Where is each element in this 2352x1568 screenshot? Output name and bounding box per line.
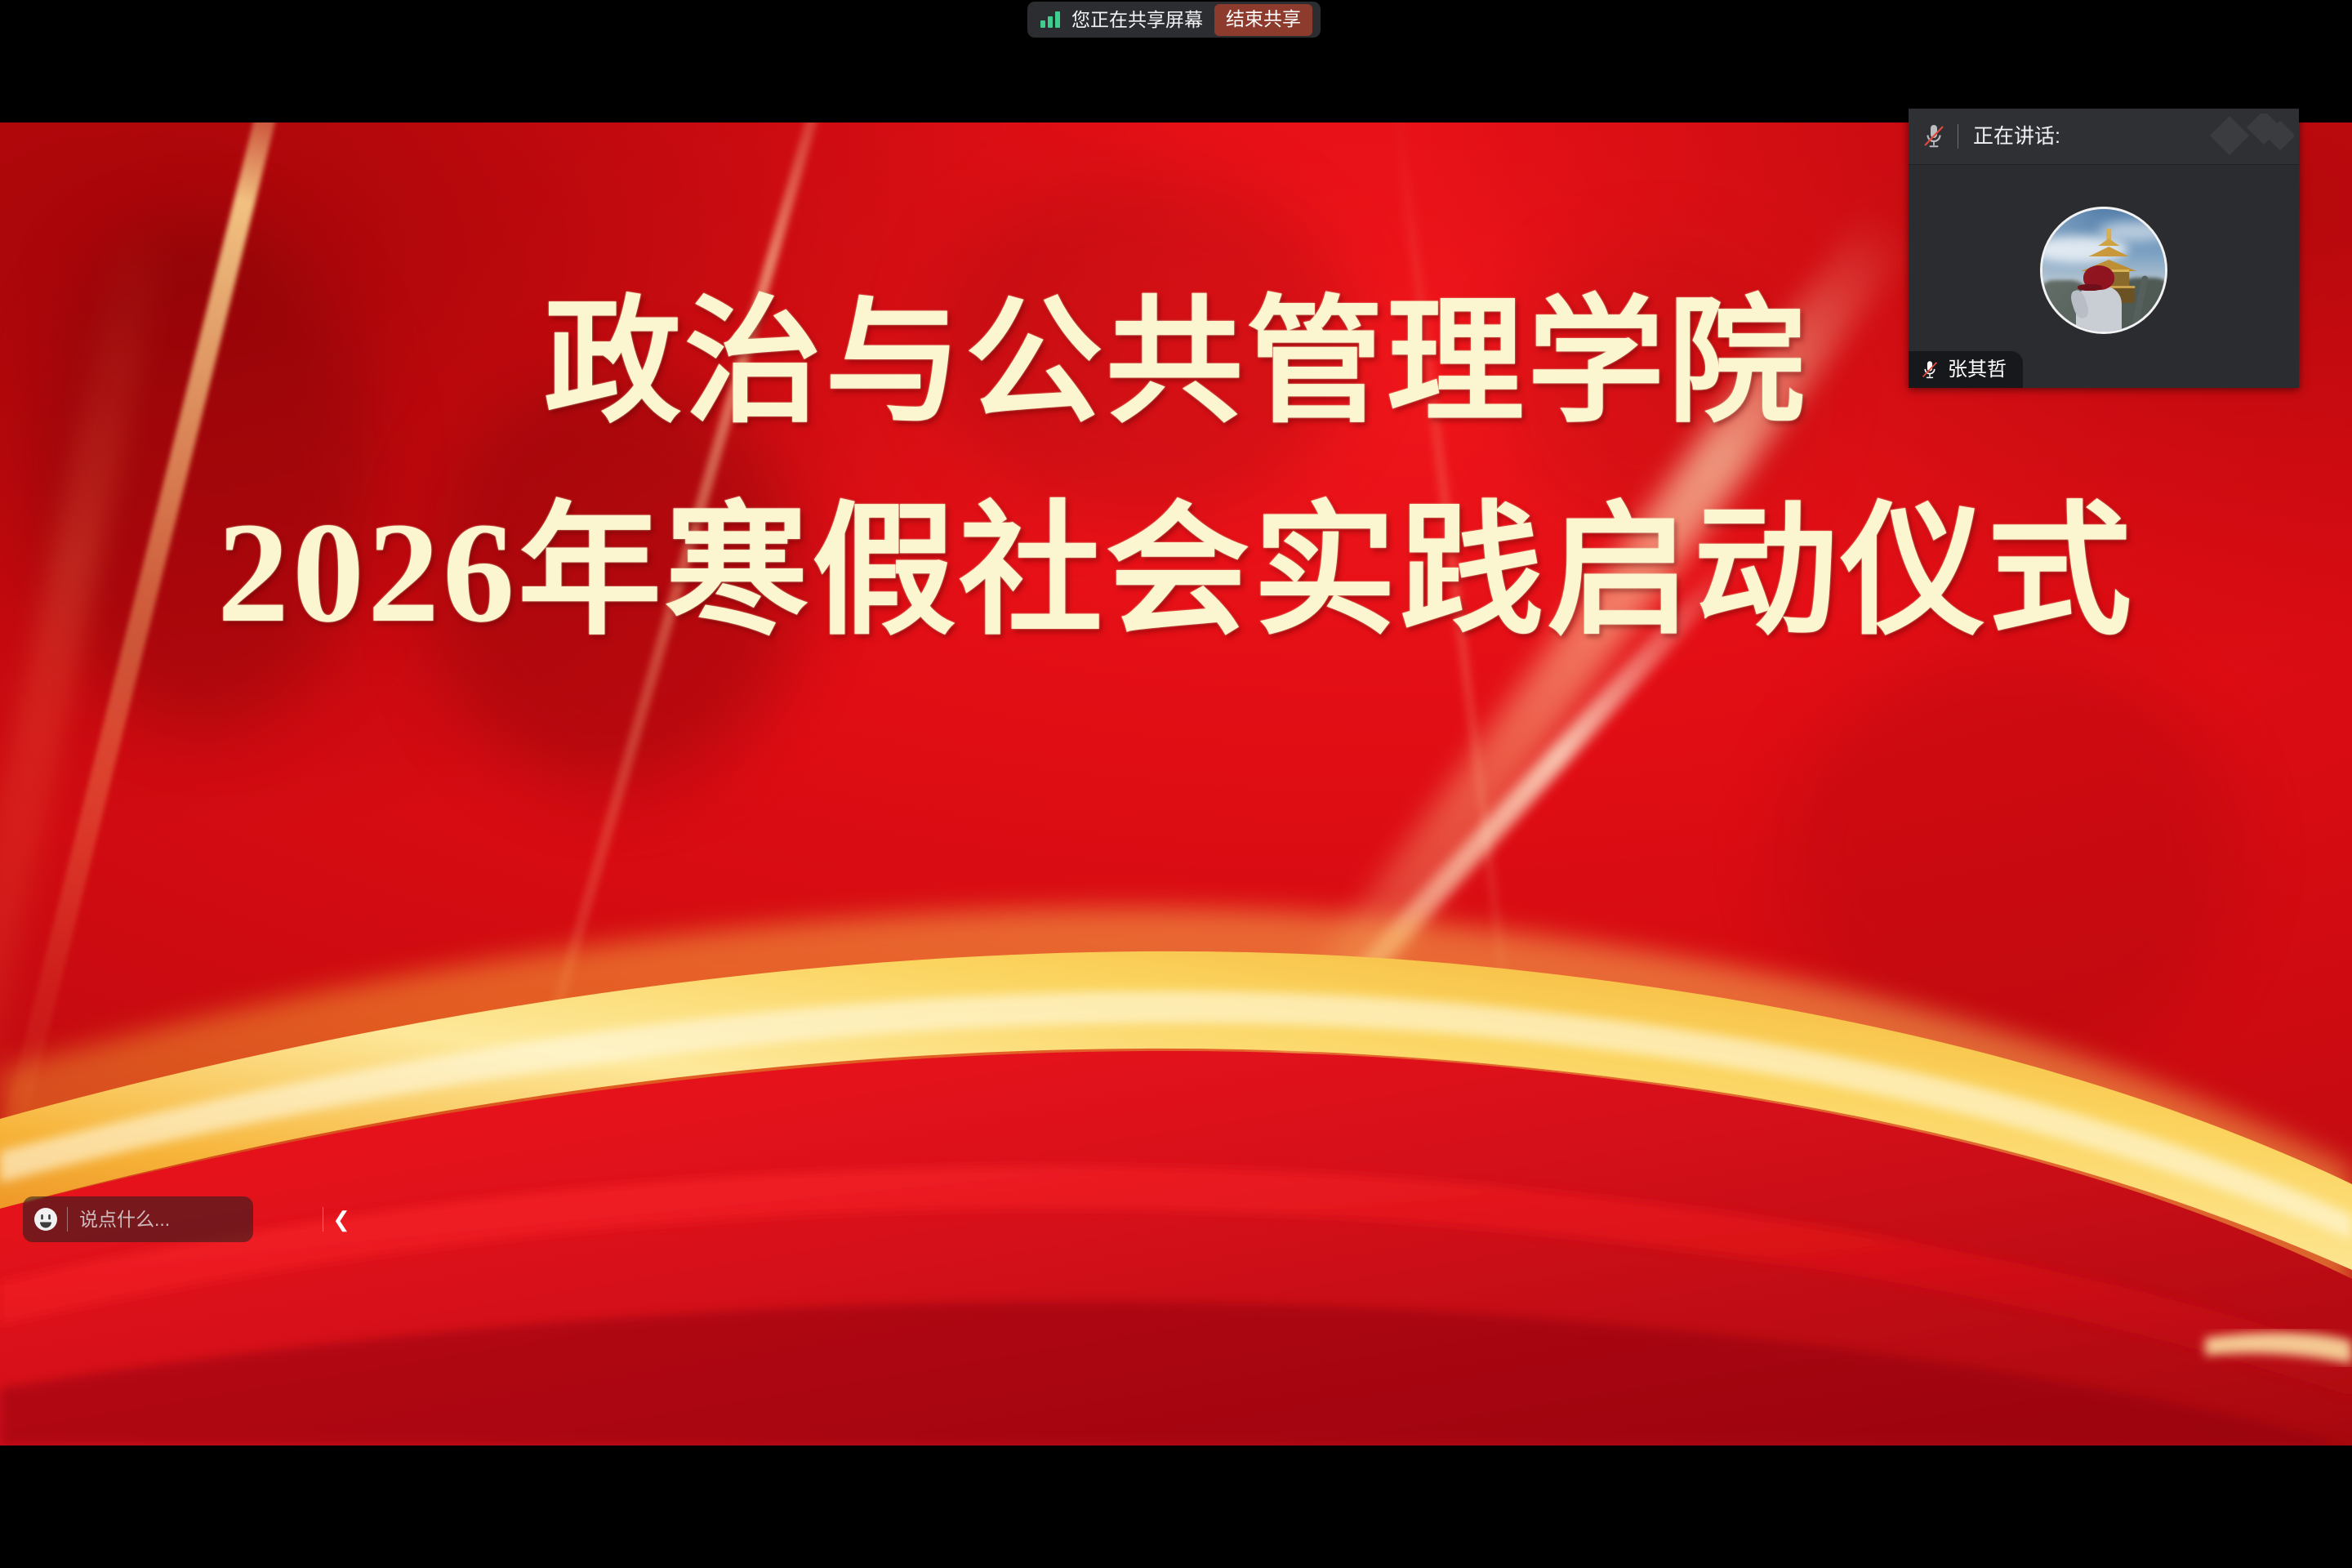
screen-share-banner: 您正在共享屏幕 结束共享: [1027, 2, 1321, 38]
participant-name: 张其哲: [1948, 360, 2007, 380]
diamond-watermark-icon: [2204, 114, 2294, 159]
speaking-label: 正在讲话:: [1973, 127, 2060, 147]
slide-wave-decoration: [0, 825, 2352, 1445]
mic-muted-icon: [1920, 359, 1940, 381]
smiley-icon[interactable]: [33, 1206, 59, 1232]
participant-thumbnail-panel[interactable]: 正在讲话:: [1909, 109, 2299, 388]
avatar: [2040, 207, 2167, 334]
panel-video-area[interactable]: 张其哲: [1909, 165, 2299, 388]
participant-name-badge: 张其哲: [1909, 351, 2023, 388]
mic-muted-icon[interactable]: [1922, 122, 1946, 150]
stop-share-button[interactable]: 结束共享: [1214, 4, 1312, 36]
chevron-left-icon[interactable]: ❮: [323, 1196, 359, 1242]
share-status-text: 您正在共享屏幕: [1071, 11, 1203, 29]
chat-input[interactable]: [68, 1208, 323, 1232]
signal-bars-icon: [1040, 11, 1060, 28]
panel-header: 正在讲话:: [1909, 109, 2299, 165]
letterbox-bottom: [0, 1445, 2352, 1568]
chat-input-bar[interactable]: ❮: [23, 1196, 253, 1242]
screen-share-view: 政治与公共管理学院 2026年寒假社会实践启动仪式 您正在共享屏幕 结束共享: [0, 0, 2352, 1568]
header-divider: [1958, 124, 1958, 149]
